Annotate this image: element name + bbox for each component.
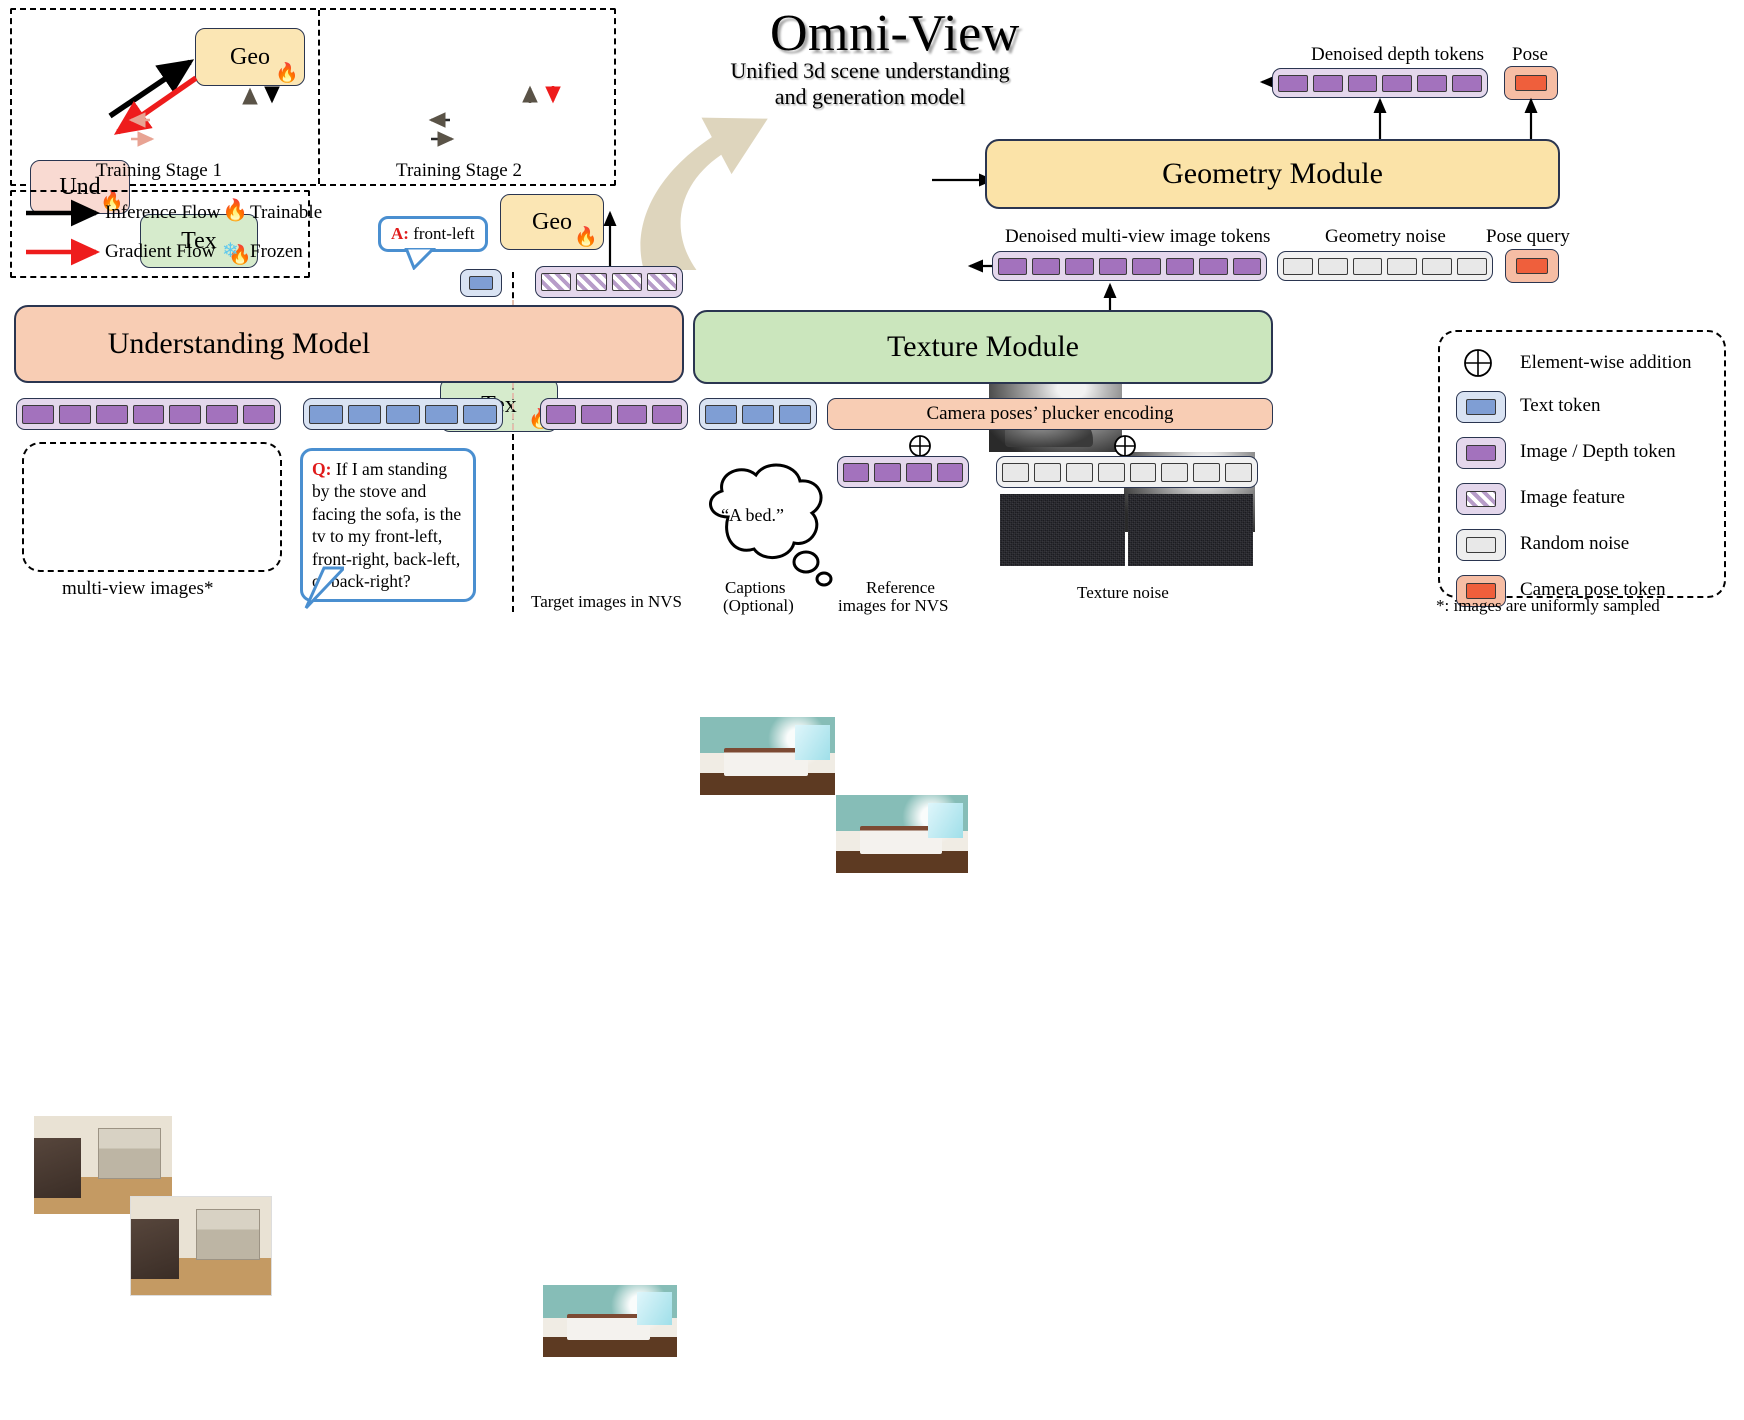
target-images-nvs-caption: Target images in NVS <box>531 592 682 612</box>
depth-token[interactable] <box>1278 75 1308 92</box>
image-token[interactable] <box>874 463 900 482</box>
text-token[interactable] <box>463 405 497 424</box>
pose-token-chip[interactable] <box>1504 66 1558 100</box>
depth-token[interactable] <box>1382 75 1412 92</box>
texture-noise-image-1 <box>1000 494 1125 566</box>
noise-token[interactable] <box>1098 463 1125 482</box>
legend-row-text-token: Text token <box>1452 391 1722 431</box>
answer-prefix: A: <box>391 224 409 243</box>
answer-bubble-tail <box>404 248 444 270</box>
und-image-tokens-strip[interactable] <box>16 398 281 430</box>
stage1-geo-label: Geo <box>230 44 270 71</box>
depth-token[interactable] <box>1313 75 1343 92</box>
text-token[interactable] <box>705 405 737 424</box>
page-title: Omni-View <box>770 4 1020 63</box>
legend-inference-flow-label: Inference Flow <box>105 202 221 224</box>
plucker-encoding-bar[interactable]: Camera poses’ plucker encoding <box>827 398 1273 430</box>
image-token[interactable] <box>206 405 238 424</box>
legend-gradient-flow-label: Gradient Flow <box>105 241 215 263</box>
und-text-tokens-strip[interactable] <box>303 398 503 430</box>
pose-query-label: Pose query <box>1486 226 1570 248</box>
plus-circle-icon <box>1462 347 1494 384</box>
reference-image-tokens-strip[interactable] <box>837 456 969 488</box>
image-token[interactable] <box>652 405 682 424</box>
image-token[interactable] <box>617 405 647 424</box>
stage2-geo-label: Geo <box>532 209 572 236</box>
multi-view-image-2 <box>130 1196 272 1296</box>
texture-noise-tokens-strip[interactable] <box>996 456 1258 488</box>
flame-icon: 🔥 <box>275 64 299 83</box>
stage2-geo-node[interactable]: Geo 🔥 <box>500 194 604 250</box>
plucker-encoding-label: Camera poses’ plucker encoding <box>926 403 1173 425</box>
image-token[interactable] <box>1065 258 1094 275</box>
image-feature-token[interactable] <box>647 273 677 291</box>
image-token[interactable] <box>1166 258 1195 275</box>
text-token[interactable] <box>425 405 459 424</box>
image-token[interactable] <box>1132 258 1161 275</box>
text-token[interactable] <box>309 405 343 424</box>
reference-caption-line1: Reference <box>866 578 935 598</box>
legend-label-addition: Element-wise addition <box>1520 352 1691 374</box>
image-feature-icon <box>1456 483 1506 515</box>
noise-token[interactable] <box>1457 258 1487 275</box>
answer-bubble: A: front-left <box>378 216 488 252</box>
denoised-depth-tokens-label: Denoised depth tokens <box>1311 44 1484 66</box>
text-token[interactable] <box>348 405 382 424</box>
snowflake-icon: ❄ <box>222 238 239 263</box>
legend-row-addition: Element-wise addition <box>1452 345 1722 385</box>
image-token[interactable] <box>133 405 165 424</box>
image-feature-strip[interactable] <box>535 266 683 298</box>
stage2-caption: Training Stage 2 <box>396 160 522 182</box>
noise-token[interactable] <box>1066 463 1093 482</box>
depth-token[interactable] <box>1417 75 1447 92</box>
target-image-nvs-1 <box>543 1285 677 1357</box>
legend-label-image-depth-token: Image / Depth token <box>1520 441 1676 463</box>
pose-query-chip[interactable] <box>1505 249 1559 283</box>
depth-token[interactable] <box>1348 75 1378 92</box>
answer-text: front-left <box>409 224 475 243</box>
image-token[interactable] <box>906 463 932 482</box>
captions-caption-line1: Captions <box>725 578 785 598</box>
flame-icon: 🔥 <box>222 198 248 223</box>
text-token[interactable] <box>779 405 811 424</box>
geometry-module-label: Geometry Module <box>1162 157 1383 191</box>
image-token[interactable] <box>1233 258 1262 275</box>
page-subtitle: Unified 3d scene understanding and gener… <box>660 58 1080 110</box>
texture-module[interactable]: Texture Module <box>693 310 1273 384</box>
noise-token[interactable] <box>1283 258 1313 275</box>
legend-label-image-feature: Image feature <box>1520 487 1625 509</box>
geometry-module[interactable]: Geometry Module <box>985 139 1560 209</box>
captions-caption-line2: (Optional) <box>723 596 794 616</box>
pose-label: Pose <box>1512 44 1548 66</box>
training-stage-divider <box>318 10 320 184</box>
image-token[interactable] <box>546 405 576 424</box>
image-feature-token[interactable] <box>612 273 642 291</box>
answer-text-token-chip[interactable] <box>460 269 502 297</box>
denoised-mv-image-tokens-strip[interactable] <box>992 251 1267 281</box>
generated-view-image-2 <box>836 795 968 873</box>
legend-label-text-token: Text token <box>1520 395 1600 417</box>
texture-noise-caption: Texture noise <box>1077 583 1169 603</box>
image-token[interactable] <box>96 405 128 424</box>
noise-token[interactable] <box>1422 258 1452 275</box>
multi-view-images-box <box>22 442 282 572</box>
legend-frozen-label: Frozen <box>250 241 303 263</box>
reference-caption-line2: images for NVS <box>838 596 948 616</box>
noise-token[interactable] <box>1193 463 1220 482</box>
image-token[interactable] <box>581 405 611 424</box>
generated-view-image-1 <box>700 717 835 795</box>
image-token[interactable] <box>243 405 275 424</box>
noise-token[interactable] <box>1034 463 1061 482</box>
stage1-caption: Training Stage 1 <box>96 160 222 182</box>
depth-token[interactable] <box>1452 75 1482 92</box>
image-token[interactable] <box>1099 258 1128 275</box>
image-token[interactable] <box>22 405 54 424</box>
image-feature-up-arrow <box>590 210 630 268</box>
text-token[interactable] <box>742 405 774 424</box>
image-token[interactable] <box>937 463 963 482</box>
understanding-model-label: Understanding Model <box>108 327 370 361</box>
noise-token[interactable] <box>1387 258 1417 275</box>
legend-row-random-noise: Random noise <box>1452 529 1722 569</box>
noise-token[interactable] <box>1161 463 1188 482</box>
legend-footnote: *: images are uniformly sampled <box>1436 596 1660 616</box>
tex-text-tokens-strip[interactable] <box>699 398 817 430</box>
question-bubble-tail <box>300 566 344 610</box>
denoised-mv-image-tokens-label: Denoised multi-view image tokens <box>1005 226 1270 248</box>
text-token[interactable] <box>386 405 420 424</box>
page-subtitle-line1: Unified 3d scene understanding <box>660 58 1080 84</box>
image-token[interactable] <box>998 258 1027 275</box>
image-feature-token[interactable] <box>576 273 606 291</box>
noise-token[interactable] <box>1225 463 1252 482</box>
geometry-noise-label: Geometry noise <box>1325 226 1446 248</box>
text-token-icon <box>1456 391 1506 423</box>
legend-label-random-noise: Random noise <box>1520 533 1629 555</box>
text-token-icon <box>469 276 494 290</box>
noise-token[interactable] <box>1353 258 1383 275</box>
legend-row-image-feature: Image feature <box>1452 483 1722 523</box>
noise-token[interactable] <box>1130 463 1157 482</box>
image-token[interactable] <box>1199 258 1228 275</box>
camera-pose-token-icon <box>1515 75 1547 92</box>
legend-trainable-label: Trainable <box>250 202 322 224</box>
legend-row-image-depth-token: Image / Depth token <box>1452 437 1722 477</box>
denoised-depth-tokens-strip[interactable] <box>1272 68 1488 98</box>
image-token[interactable] <box>59 405 91 424</box>
image-token[interactable] <box>843 463 869 482</box>
camera-pose-token-icon <box>1516 258 1548 275</box>
question-prefix: Q: <box>312 459 331 479</box>
understanding-model-module[interactable]: Understanding Model <box>14 305 684 383</box>
image-depth-token-icon <box>1456 437 1506 469</box>
caption-bubble-text: “A bed.” <box>721 505 784 526</box>
noise-token[interactable] <box>1318 258 1348 275</box>
texture-noise-image-2 <box>1128 494 1253 566</box>
image-token[interactable] <box>169 405 201 424</box>
tex-image-tokens-strip[interactable] <box>540 398 688 430</box>
random-noise-icon <box>1456 529 1506 561</box>
page-subtitle-line2: and generation model <box>660 84 1080 110</box>
image-token[interactable] <box>1032 258 1061 275</box>
noise-token[interactable] <box>1002 463 1029 482</box>
geometry-noise-strip[interactable] <box>1277 251 1493 281</box>
image-feature-token[interactable] <box>541 273 571 291</box>
texture-module-label: Texture Module <box>887 330 1079 364</box>
stage1-geo-node[interactable]: Geo 🔥 <box>195 28 305 86</box>
multi-view-images-caption: multi-view images* <box>62 578 213 600</box>
